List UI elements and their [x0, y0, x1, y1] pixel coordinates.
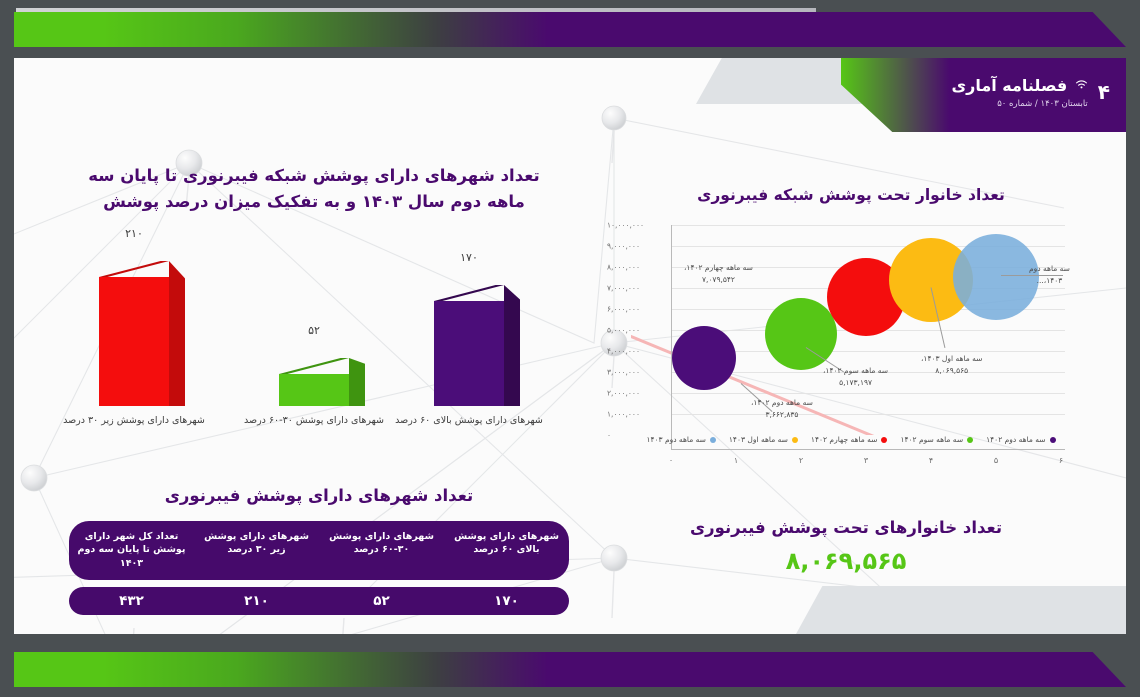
x-tick-label: ۵: [994, 456, 998, 465]
data-label-value: ۷,۰۷۹,۵۴۲: [702, 275, 735, 284]
legend-label: سه ماهه چهارم ۱۴۰۲: [811, 435, 878, 444]
data-label-value: ۵,۱۷۳,۱۹۷: [839, 378, 872, 387]
bar-chart-block: تعداد شهرهای دارای پوشش شبکه فیبرنوری تا…: [44, 163, 584, 463]
data-label-value: ۸,۰۶۹,۵۶۵: [935, 366, 968, 375]
brand-subtitle: تابستان ۱۴۰۳ / شماره ۵۰: [951, 99, 1087, 109]
bar-3d-above-60: [434, 285, 504, 406]
legend-item-q2-1403[interactable]: سه ماهه دوم ۱۴۰۳: [646, 435, 715, 444]
data-label-text: سه ماهه دوم ۱۴۰۲،: [751, 398, 813, 407]
households-value: ۸,۰۶۹,۵۶۵: [646, 547, 1046, 575]
table-header-row: شهرهای دارای پوشش بالای ۶۰ درصد شهرهای د…: [69, 521, 569, 580]
bubble-chart-title: تعداد خانوار تحت پوشش شبکه فیبرنوری: [631, 183, 1071, 207]
table-row: ۱۷۰ ۵۲ ۲۱۰ ۴۳۲: [69, 587, 569, 615]
data-label-q1-1403: سه ماهه اول ۱۴۰۳، ۸,۰۶۹,۵۶۵: [921, 353, 982, 377]
cities-table-title: تعداد شهرهای دارای پوشش فیبرنوری: [69, 483, 569, 509]
households-title: تعداد خانوارهای تحت پوشش فیبرنوری: [646, 518, 1046, 537]
content-sheet: ۴ فصلنامه آماری تابستان ۱۴۰۳ / شماره ۵۰: [14, 58, 1126, 634]
y-tick-label: ۲,۰۰۰,۰۰۰: [607, 389, 667, 398]
brand-block: فصلنامه آماری تابستان ۱۴۰۳ / شماره ۵۰: [951, 76, 1087, 109]
legend-label: سه ماهه دوم ۱۴۰۲: [986, 435, 1045, 444]
data-label-q2-1402: سه ماهه دوم ۱۴۰۲، ۳,۶۶۲,۸۳۵: [751, 397, 813, 421]
bubble-q2-1403[interactable]: [953, 234, 1039, 320]
y-tick-label: ۸,۰۰۰,۰۰۰: [607, 263, 667, 272]
bubble-chart-legend: سه ماهه دوم ۱۴۰۲ سه ماهه سوم ۱۴۰۲ سه ماه…: [631, 435, 1071, 444]
x-tick-label: ۲: [799, 456, 803, 465]
header-content: ۴ فصلنامه آماری تابستان ۱۴۰۳ / شماره ۵۰: [841, 58, 1126, 132]
brand-title-row: فصلنامه آماری: [951, 76, 1087, 95]
legend-dot-icon: [967, 437, 973, 443]
bar-group-above-60: ۱۷۰ شهرهای دارای پوشش بالای ۶۰ درصد: [434, 285, 504, 406]
legend-item-q3-1402[interactable]: سه ماهه سوم ۱۴۰۲: [900, 435, 973, 444]
page-number: ۴: [1098, 82, 1110, 102]
brand-title-text: فصلنامه آماری: [951, 76, 1067, 95]
y-tick-label: ۶,۰۰۰,۰۰۰: [607, 305, 667, 314]
legend-item-q4-1402[interactable]: سه ماهه چهارم ۱۴۰۲: [811, 435, 888, 444]
bubble-chart-block: تعداد خانوار تحت پوشش شبکه فیبرنوری: [631, 183, 1071, 563]
bar-group-under-30: ۲۱۰ شهرهای دارای پوشش زیر ۳۰ درصد: [99, 261, 169, 406]
bar-3d-under-30: [99, 261, 169, 406]
legend-label: سه ماهه سوم ۱۴۰۲: [900, 435, 963, 444]
bar-top-face: [434, 285, 504, 301]
legend-item-q2-1402[interactable]: سه ماهه دوم ۱۴۰۲: [986, 435, 1055, 444]
bar-front-face: [434, 301, 504, 406]
bar-value-above-60: ۱۷۰: [434, 251, 504, 264]
bar-chart-plot: ۲۱۰ شهرهای دارای پوشش زیر ۳۰ درصد ۵۲: [44, 258, 584, 458]
x-tick-label: ۴: [929, 456, 933, 465]
legend-dot-icon: [1050, 437, 1056, 443]
bar-top-face: [279, 358, 349, 374]
bubble-chart-y-axis: [671, 225, 672, 450]
cities-table-block: تعداد شهرهای دارای پوشش فیبرنوری شهرهای …: [69, 483, 569, 622]
data-label-q4-1402: سه ماهه چهارم ۱۴۰۲، ۷,۰۷۹,۵۴۲: [684, 262, 753, 286]
sheet-corner-bottom-right: [796, 586, 1126, 634]
bar-value-under-30: ۲۱۰: [99, 227, 169, 240]
bar-top-face: [99, 261, 169, 277]
bar-side-face: [504, 285, 520, 406]
bar-group-30-60: ۵۲ شهرهای دارای پوشش ۳۰-۶۰ درصد: [279, 358, 349, 406]
data-label-text: سه ماهه سوم ۱۴۰۲،: [823, 366, 888, 375]
bubble-chart-x-axis: [671, 449, 1065, 450]
data-label-text: سه ماهه اول ۱۴۰۳،: [921, 354, 982, 363]
y-tick-label: ۷,۰۰۰,۰۰۰: [607, 284, 667, 293]
table-header-total: تعداد کل شهر دارای پوشش تا پایان سه دوم …: [69, 521, 194, 580]
top-band-highlight: [16, 8, 816, 12]
data-label-value: ۳,۶۶۲,۸۳۵: [765, 410, 798, 419]
table-header-above-60: شهرهای دارای پوشش بالای ۶۰ درصد: [444, 521, 569, 580]
data-label-value: ۱۴۰۳،...: [1037, 276, 1063, 285]
data-label-text: سه ماهه چهارم ۱۴۰۲،: [684, 263, 753, 272]
data-label-q3-1402: سه ماهه سوم ۱۴۰۲، ۵,۱۷۳,۱۹۷: [823, 365, 888, 389]
table-value-30-60: ۵۲: [319, 587, 444, 615]
y-tick-label: ۱۰,۰۰۰,۰۰۰: [607, 221, 667, 230]
top-decorative-band: [14, 12, 1126, 47]
bar-label-above-60: شهرهای دارای پوشش بالای ۶۰ درصد: [394, 414, 544, 428]
x-tick-label: ۶: [1059, 456, 1063, 465]
y-tick-label: ۱,۰۰۰,۰۰۰: [607, 410, 667, 419]
bar-front-face: [99, 277, 169, 406]
table-header-30-60: شهرهای دارای پوشش ۳۰-۶۰ درصد: [319, 521, 444, 580]
page-canvas: ۴ فصلنامه آماری تابستان ۱۴۰۳ / شماره ۵۰: [0, 0, 1140, 697]
x-tick-label: ۳: [864, 456, 868, 465]
x-tick-label: ۰: [669, 456, 673, 465]
bar-3d-30-60: [279, 358, 349, 406]
bar-chart-title: تعداد شهرهای دارای پوشش شبکه فیبرنوری تا…: [44, 163, 584, 214]
bar-side-face: [169, 261, 185, 406]
y-tick-label: ۵,۰۰۰,۰۰۰: [607, 326, 667, 335]
bar-front-face: [279, 374, 349, 406]
table-value-total: ۴۳۲: [69, 587, 194, 615]
data-label-text: سه ماهه دوم: [1029, 264, 1070, 273]
bar-side-face: [349, 358, 365, 406]
bar-value-30-60: ۵۲: [279, 324, 349, 337]
legend-item-q1-1403[interactable]: سه ماهه اول ۱۴۰۳: [729, 435, 798, 444]
table-value-under-30: ۲۱۰: [194, 587, 319, 615]
bar-label-under-30: شهرهای دارای پوشش زیر ۳۰ درصد: [59, 414, 209, 428]
table-value-above-60: ۱۷۰: [444, 587, 569, 615]
bubble-chart-plot: ۱۰,۰۰۰,۰۰۰ ۹,۰۰۰,۰۰۰ ۸,۰۰۰,۰۰۰ ۷,۰۰۰,۰۰۰…: [631, 225, 1071, 450]
legend-dot-icon: [881, 437, 887, 443]
y-tick-label: ۹,۰۰۰,۰۰۰: [607, 242, 667, 251]
y-tick-label: ۴,۰۰۰,۰۰۰: [607, 347, 667, 356]
legend-dot-icon: [792, 437, 798, 443]
bar-label-30-60: شهرهای دارای پوشش ۳۰-۶۰ درصد: [239, 414, 389, 428]
bottom-decorative-band: [14, 652, 1126, 687]
legend-label: سه ماهه دوم ۱۴۰۳: [646, 435, 705, 444]
table-header-under-30: شهرهای دارای پوشش زیر ۳۰ درصد: [194, 521, 319, 580]
bubble-q2-1402[interactable]: [672, 326, 736, 390]
data-label-q2-1403: سه ماهه دوم ۱۴۰۳،...: [1029, 263, 1070, 287]
x-tick-label: ۱: [734, 456, 738, 465]
y-tick-label: ۳,۰۰۰,۰۰۰: [607, 368, 667, 377]
households-summary-block: تعداد خانوارهای تحت پوشش فیبرنوری ۸,۰۶۹,…: [646, 518, 1046, 575]
legend-label: سه ماهه اول ۱۴۰۳: [729, 435, 788, 444]
wifi-icon: [1075, 76, 1088, 94]
legend-dot-icon: [710, 437, 716, 443]
